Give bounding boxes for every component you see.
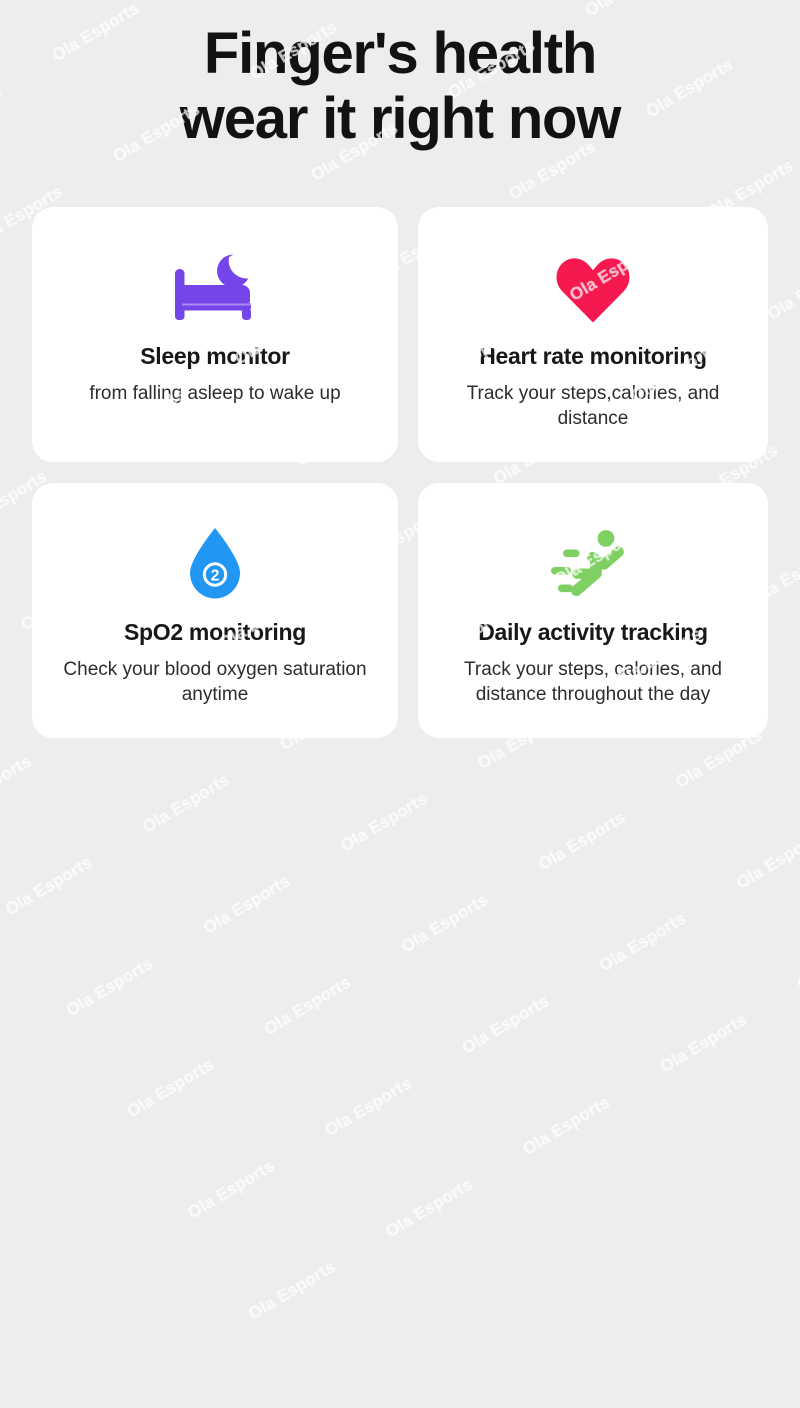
card-title: Daily activity tracking <box>478 619 708 646</box>
headline-line-1: Finger's health <box>0 22 800 87</box>
promo-page: Finger's health wear it right now <box>0 0 800 800</box>
watermark-text: Ola Esports <box>245 1225 443 1408</box>
watermark-text: Ola Esports <box>382 1143 580 1327</box>
feature-card-spo2: 2 SpO2 monitoring Check your blood oxyge… <box>32 483 398 738</box>
watermark-text: Ola Esports <box>184 1124 382 1308</box>
water-drop-o2-icon: 2 <box>186 517 244 613</box>
watermark-text: Ola Esports <box>733 794 800 978</box>
watermark-text: Ola Esports <box>124 1023 322 1207</box>
feature-card-daily-activity: Daily activity tracking Track your steps… <box>418 483 768 738</box>
headline-line-2: wear it right now <box>0 87 800 152</box>
feature-card-sleep-monitor: Sleep monitor from falling asleep to wak… <box>32 207 398 462</box>
watermark-text: Ola Esports <box>322 1041 520 1225</box>
feature-card-grid: Sleep monitor from falling asleep to wak… <box>32 207 768 738</box>
watermark-text: Ola Esports <box>200 839 398 1023</box>
watermark-text: Ola Esports <box>535 775 733 959</box>
svg-text:2: 2 <box>211 568 220 585</box>
watermark-text: Ola Esports <box>2 820 200 1004</box>
watermark-text: Ola Esports <box>519 1060 717 1244</box>
watermark-text: Ola Esports <box>398 858 596 1042</box>
card-title: Sleep monitor <box>140 343 289 370</box>
watermark-text: Ola Esports <box>459 959 657 1143</box>
card-title: SpO2 monitoring <box>124 619 306 646</box>
feature-card-heart-rate: Heart rate monitoring Track your steps,c… <box>418 207 768 462</box>
bed-moon-icon <box>169 241 261 337</box>
heart-icon <box>553 241 633 337</box>
watermark-text: Ola Esports <box>657 978 800 1162</box>
card-description: Track your steps,calories, and distance <box>418 381 768 431</box>
card-description: Track your steps, calories, and distance… <box>418 657 768 707</box>
page-title: Finger's health wear it right now <box>0 22 800 152</box>
watermark-text: Ola Esports <box>794 895 800 1079</box>
card-title: Heart rate monitoring <box>479 343 707 370</box>
card-description: Check your blood oxygen saturation anyti… <box>32 657 398 707</box>
card-description: from falling asleep to wake up <box>71 381 358 406</box>
watermark-text: Ola Esports <box>63 921 261 1105</box>
watermark-text: Ola Esports <box>596 877 794 1061</box>
running-person-icon <box>549 517 637 613</box>
watermark-text: Ola Esports <box>261 940 459 1124</box>
